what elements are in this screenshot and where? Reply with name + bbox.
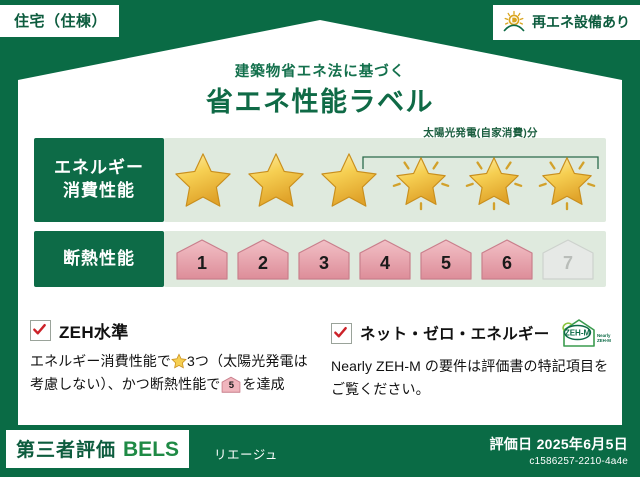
insulation-badge-4: 4	[357, 237, 413, 281]
insulation-badge-5-label: 5	[441, 254, 451, 281]
dwelling-type-tag: 住宅（住棟）	[0, 5, 119, 37]
insulation-badge-5: 5	[418, 237, 474, 281]
zeh-m-logo-icon: ZEH-M Nearly ZEH-M	[560, 318, 612, 348]
bels-jp-label: 第三者評価	[16, 435, 116, 462]
svg-text:ZEH-M: ZEH-M	[564, 329, 590, 338]
energy-star-5-solar	[463, 149, 525, 211]
evaluation-date-line: 評価日 2025年6月5日	[489, 434, 628, 454]
net-zero-energy-checkbox[interactable]	[331, 323, 352, 344]
insulation-badge-2-label: 2	[258, 254, 268, 281]
energy-star-4-solar	[390, 149, 452, 211]
inline-badge-number: 5	[221, 376, 241, 393]
insulation-performance-row: 断熱性能 1	[34, 231, 606, 287]
inline-insulation-badge-icon: 5	[221, 376, 241, 393]
insulation-badge-1: 1	[174, 237, 230, 281]
insulation-badge-6: 6	[479, 237, 535, 281]
zeh-standard-body: エネルギー消費性能で3つ（太陽光発電は考慮しない）、かつ断熱性能で5を達成	[30, 350, 313, 395]
net-zero-energy-text-1: Nearly ZEH-M の要件は評価書の特記項	[331, 358, 580, 374]
check-icon	[32, 322, 47, 337]
renewable-badge-label: 再エネ設備あり	[532, 12, 630, 32]
energy-label-line2: 消費性能	[63, 180, 135, 203]
insulation-badge-3: 3	[296, 237, 352, 281]
zeh-standard-text-4: を達成	[242, 376, 284, 392]
net-zero-energy-column: ネット・ゼロ・エネルギー ZEH-M Nearly ZEH-M Nearly Z…	[331, 318, 614, 400]
energy-star-3	[318, 149, 380, 211]
insulation-badge-7-label: 7	[563, 254, 573, 281]
energy-star-6-solar	[536, 149, 598, 211]
energy-performance-row: エネルギー 消費性能 太陽光発電(自家消費)分	[34, 138, 606, 222]
evaluation-info: 評価日 2025年6月5日 c1586257-2210-4a4e	[489, 434, 628, 467]
insulation-badge-2: 2	[235, 237, 291, 281]
energy-star-1	[172, 149, 234, 211]
sun-icon	[501, 10, 527, 34]
builder-name: リエージュ	[214, 444, 278, 463]
svg-text:ZEH-M: ZEH-M	[597, 338, 611, 343]
label-footer: 第三者評価 BELS リエージュ 評価日 2025年6月5日 c1586257-…	[0, 425, 640, 477]
insulation-label-text: 断熱性能	[63, 248, 135, 271]
energy-stars-area: 太陽光発電(自家消費)分	[164, 138, 606, 222]
zeh-standard-header: ZEH水準	[30, 318, 313, 343]
net-zero-energy-body: Nearly ZEH-M の要件は評価書の特記項目をご覧ください。	[331, 355, 614, 400]
energy-star-2	[245, 149, 307, 211]
energy-performance-label: エネルギー 消費性能	[34, 138, 164, 222]
evaluation-date-value: 2025年6月5日	[537, 436, 628, 452]
performance-rows: エネルギー 消費性能 太陽光発電(自家消費)分	[34, 138, 606, 296]
zeh-standard-text-2: 3つ（太陽光発電	[187, 353, 294, 369]
energy-label-line1: エネルギー	[54, 157, 144, 180]
energy-label-root: 住宅（住棟） 再エネ設備あり 建築物省エネ法に基づく 省エネ性能	[0, 0, 640, 477]
zeh-standard-checkbox[interactable]	[30, 320, 51, 341]
zeh-section: ZEH水準 エネルギー消費性能で3つ（太陽光発電は考慮しない）、かつ断熱性能で5…	[30, 318, 614, 400]
net-zero-energy-header: ネット・ゼロ・エネルギー ZEH-M Nearly ZEH-M	[331, 318, 614, 348]
bels-en-label: BELS	[123, 438, 179, 462]
check-icon	[333, 325, 348, 340]
renewable-equipment-badge: 再エネ設備あり	[493, 5, 640, 40]
insulation-badge-3-label: 3	[319, 254, 329, 281]
insulation-badges-area: 1 2 3	[164, 231, 606, 287]
solar-bracket-caption: 太陽光発電(自家消費)分	[361, 125, 600, 140]
zeh-standard-text-1: エネルギー消費性能で	[30, 353, 171, 369]
insulation-badge-1-label: 1	[197, 254, 207, 281]
zeh-standard-column: ZEH水準 エネルギー消費性能で3つ（太陽光発電は考慮しない）、かつ断熱性能で5…	[30, 318, 313, 400]
insulation-badge-list: 1 2 3	[174, 237, 596, 281]
label-subtitle: 建築物省エネ法に基づく	[0, 60, 640, 81]
evaluation-date-label: 評価日	[489, 436, 532, 452]
insulation-badge-6-label: 6	[502, 254, 512, 281]
inline-star-icon	[171, 353, 187, 369]
insulation-badge-4-label: 4	[380, 254, 390, 281]
zeh-standard-title: ZEH水準	[59, 318, 129, 343]
net-zero-energy-title: ネット・ゼロ・エネルギー	[360, 322, 550, 344]
dwelling-type-label: 住宅（住棟）	[14, 13, 107, 30]
label-title: 省エネ性能ラベル	[0, 80, 640, 119]
bels-certification-box: 第三者評価 BELS	[6, 430, 189, 468]
insulation-badge-7: 7	[540, 237, 596, 281]
evaluation-id: c1586257-2210-4a4e	[489, 456, 628, 467]
insulation-performance-label: 断熱性能	[34, 231, 164, 287]
